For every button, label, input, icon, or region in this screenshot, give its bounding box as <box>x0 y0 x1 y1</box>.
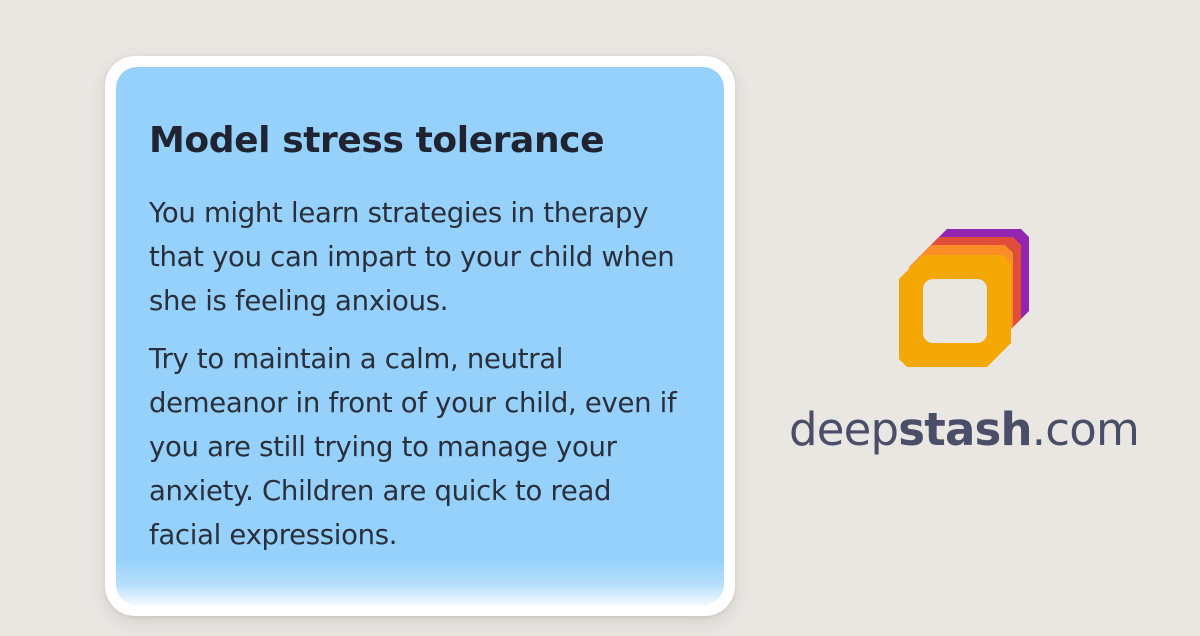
idea-paragraph-2: Try to maintain a calm, neutral demeanor… <box>149 337 684 557</box>
idea-card[interactable]: Model stress tolerance You might learn s… <box>105 56 735 616</box>
wordmark-prefix: deep <box>789 403 898 456</box>
idea-paragraph-1: You might learn strategies in therapy th… <box>149 191 684 323</box>
page-title: Model stress tolerance <box>149 121 684 161</box>
deepstash-logo-icon <box>889 215 1039 375</box>
idea-card-surface: Model stress tolerance You might learn s… <box>116 67 724 605</box>
wordmark-suffix: .com <box>1032 403 1139 456</box>
wordmark-emphasis: stash <box>898 403 1031 456</box>
screenshot-stage: Model stress tolerance You might learn s… <box>0 0 1200 636</box>
brand-block: deepstash.com <box>762 215 1166 452</box>
idea-card-content: Model stress tolerance You might learn s… <box>116 67 724 605</box>
brand-wordmark: deepstash.com <box>789 407 1139 452</box>
logo-inner-cutout-icon <box>923 279 987 343</box>
